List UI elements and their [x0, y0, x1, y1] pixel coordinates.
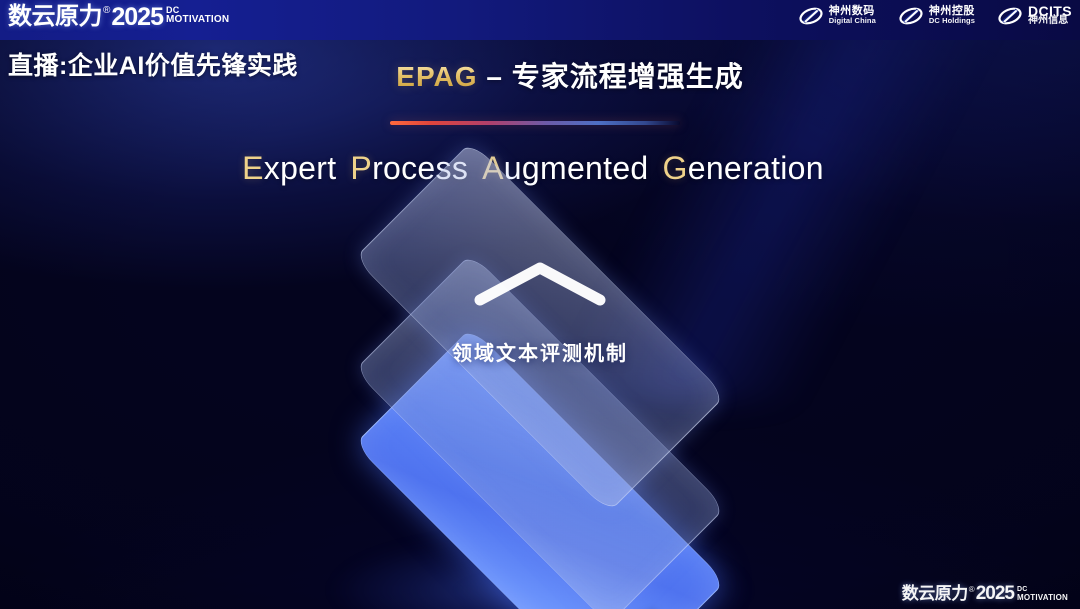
brand-year: 2025: [111, 4, 163, 30]
diagram-top-layer[interactable]: [360, 147, 720, 507]
partner-logo-text: 神州控股 DC Holdings: [929, 6, 975, 26]
live-stream-title: 直播:企业AI价值先锋实践: [8, 46, 298, 82]
watermark-name-cn: 数云原力: [902, 584, 968, 603]
partner-logo-text: 神州数码 Digital China: [829, 6, 876, 26]
swoosh-logo-icon: [997, 5, 1023, 27]
partner-logo-dcits: DCITS 神州信息: [997, 5, 1072, 27]
brand-registered-mark: ®: [103, 5, 110, 17]
title-divider: [390, 121, 680, 125]
brand-dc-motivation: DC MOTIVATION: [166, 6, 229, 24]
swoosh-logo-icon: [898, 5, 924, 27]
watermark-year: 2025: [976, 584, 1014, 603]
brand-logo: 数云原力 ® 2025 DC MOTIVATION: [8, 4, 229, 30]
top-layer-plate: [354, 141, 726, 513]
subtitle-rest-expert: xpert: [264, 150, 337, 186]
partner-logo-group: 神州数码 Digital China 神州控股 DC Holdings: [798, 5, 1072, 27]
partner-name-cn: 神州控股: [929, 6, 975, 16]
partner-logo-digital-china: 神州数码 Digital China: [798, 5, 876, 27]
brand-name-cn: 数云原力: [8, 4, 102, 30]
brand-dc-line2: MOTIVATION: [166, 15, 229, 24]
watermark-dc-line2: MOTIVATION: [1017, 594, 1068, 602]
partner-logo-dc-holdings: 神州控股 DC Holdings: [898, 5, 975, 27]
stacked-layers-diagram: 领域文本评测机制 Dynamic MOE 长文本记忆 三类语义建模模块: [0, 215, 1080, 585]
partner-logo-text: DCITS 神州信息: [1028, 6, 1072, 26]
subtitle-cap-e: E: [242, 150, 264, 186]
partner-name-en: DC Holdings: [929, 16, 975, 26]
subtitle-word-expert: Expert: [242, 150, 336, 186]
slide-canvas: 数云原力 ® 2025 DC MOTIVATION 直播:企业AI价值先锋实践 …: [0, 0, 1080, 609]
partner-name-en: Digital China: [829, 16, 876, 26]
corner-watermark: 数云原力 ® 2025 DC MOTIVATION: [902, 584, 1068, 603]
watermark-dc-motivation: DC MOTIVATION: [1017, 586, 1068, 601]
partner-name-cn: 神州数码: [829, 6, 876, 16]
top-layer-label: 领域文本评测机制: [440, 337, 640, 366]
watermark-registered-mark: ®: [969, 585, 975, 594]
chevron-up-icon: [472, 260, 608, 306]
partner-name-en: 神州信息: [1028, 16, 1072, 26]
swoosh-logo-icon: [798, 5, 824, 27]
